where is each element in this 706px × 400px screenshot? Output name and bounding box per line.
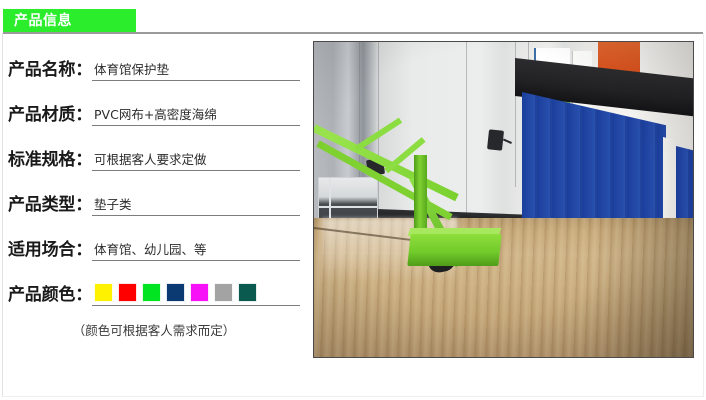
wall-seam	[378, 42, 379, 234]
spec-row-product-name: 产品名称： 体育馆保护垫	[8, 52, 300, 81]
spec-label: 产品颜色：	[8, 284, 92, 306]
spec-value: 体育馆、幼儿园、等	[92, 242, 207, 259]
spec-value: 体育馆保护垫	[92, 62, 169, 79]
spec-label: 产品名称：	[8, 59, 92, 81]
color-note: （颜色可根据客人需求而定）	[8, 320, 300, 339]
color-swatch-green[interactable]	[142, 283, 161, 302]
wall-speaker	[487, 129, 504, 151]
spec-label: 产品类型：	[8, 194, 92, 216]
spec-row-application: 适用场合： 体育馆、幼儿园、等	[8, 232, 300, 261]
product-info-page: 产品信息 产品名称： 体育馆保护垫 产品材质： PVC网布+高密度海绵 标准规格…	[0, 0, 706, 400]
spec-row-material: 产品材质： PVC网布+高密度海绵	[8, 97, 300, 126]
color-swatch-dark-teal[interactable]	[238, 283, 257, 302]
spec-row-color: 产品颜色：	[8, 277, 300, 306]
color-swatch-red[interactable]	[118, 283, 137, 302]
color-swatch-field	[92, 282, 300, 306]
header-divider	[3, 32, 703, 34]
spec-row-product-type: 产品类型： 垫子类	[8, 187, 300, 216]
spec-value-field: 垫子类	[92, 192, 300, 216]
gym-wood-floor	[314, 218, 693, 357]
spec-value: PVC网布+高密度海绵	[92, 107, 217, 124]
product-photo	[313, 41, 694, 358]
section-banner: 产品信息	[3, 9, 136, 32]
spec-value: 可根据客人要求定做	[92, 152, 207, 169]
wall-seam	[466, 42, 467, 234]
floor-shadow	[519, 218, 693, 357]
specification-list: 产品名称： 体育馆保护垫 产品材质： PVC网布+高密度海绵 标准规格： 可根据…	[8, 52, 300, 322]
product-photo-scene	[314, 42, 693, 357]
color-swatch-navy[interactable]	[166, 283, 185, 302]
section-banner-title: 产品信息	[14, 14, 72, 28]
color-swatch-gray[interactable]	[214, 283, 233, 302]
spec-value-field: 可根据客人要求定做	[92, 147, 300, 171]
color-swatch-magenta[interactable]	[190, 283, 209, 302]
spec-value-field: 体育馆、幼儿园、等	[92, 237, 300, 261]
color-swatch-strip	[92, 283, 257, 304]
hoop-base	[407, 234, 501, 266]
spec-value-field: PVC网布+高密度海绵	[92, 102, 300, 126]
spec-label: 适用场合：	[8, 239, 92, 261]
color-swatch-yellow[interactable]	[94, 283, 113, 302]
hoop-post	[414, 155, 427, 237]
spec-value-field: 体育馆保护垫	[92, 57, 300, 81]
spec-label: 产品材质：	[8, 104, 92, 126]
spec-label: 标准规格：	[8, 149, 92, 171]
spec-row-specification: 标准规格： 可根据客人要求定做	[8, 142, 300, 171]
spec-value: 垫子类	[92, 197, 132, 214]
